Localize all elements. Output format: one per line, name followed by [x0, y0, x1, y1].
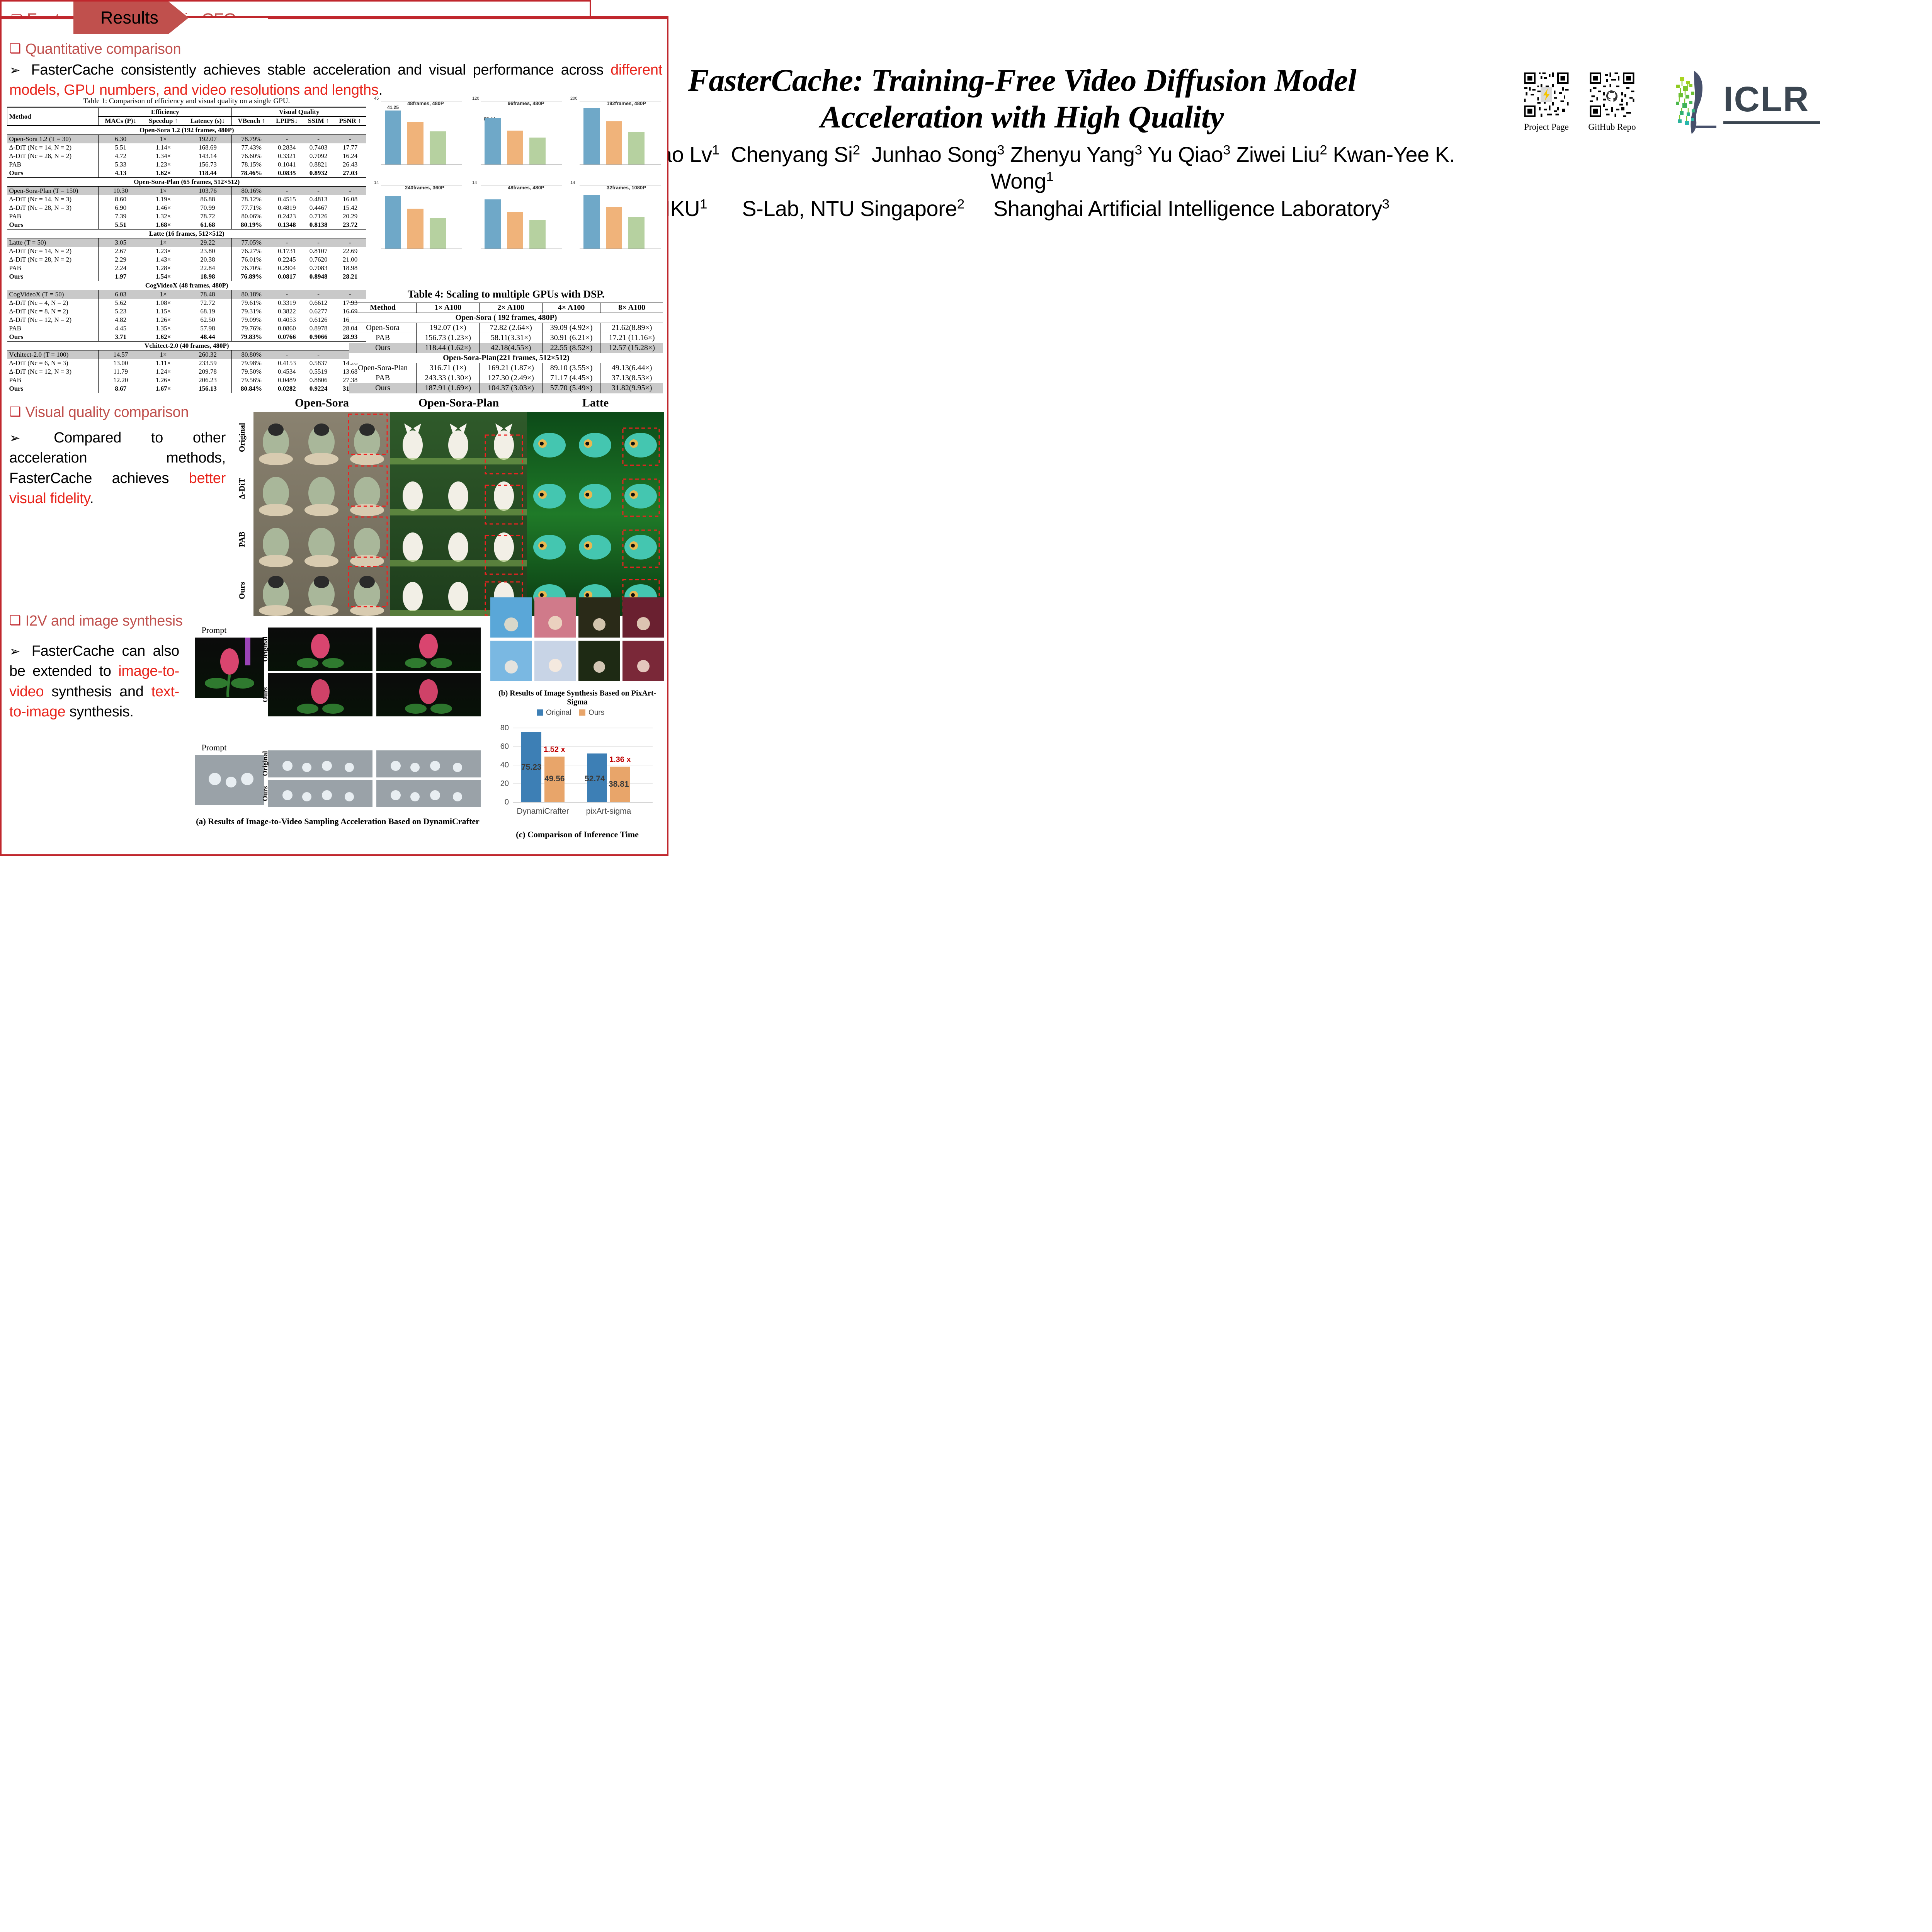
i2v-bullet-mid: synthesis and [44, 684, 151, 700]
table4-cell: PAB [349, 373, 417, 383]
table1-cell: 0.9066 [303, 333, 334, 342]
table-row: Δ-DiT (Nc = 14, N = 3)8.601.19×86.8878.1… [7, 195, 367, 204]
table-row: Open-Sora192.07 (1×)72.82 (2.64×)39.09 (… [349, 323, 663, 333]
inference-time-chart: Original Ours 806040 200 [490, 706, 664, 840]
table1-cell: 26.43 [334, 160, 366, 169]
table-row: PAB5.331.23×156.7378.15%0.10410.882126.4… [7, 160, 367, 169]
table-row: Δ-DiT (Nc = 12, N = 3)11.791.24×209.7879… [7, 367, 367, 376]
table-row: PAB7.391.32×78.7280.06%0.24230.712620.29 [7, 212, 367, 221]
poster-title-line-2: Acceleration with High Quality [572, 99, 1472, 135]
quantitative-head: ❑Quantitative comparison [9, 41, 662, 58]
table-row: PAB2.241.28×22.8476.70%0.29040.708318.98 [7, 264, 367, 272]
i2v-head-label: I2V and image synthesis [25, 613, 182, 629]
arrow-bullet-icon: ➢ [9, 431, 20, 446]
bar-category-dynamicrafter: DynamiCrafter [517, 807, 569, 816]
table1-cell-method: Open-Sora-Plan (T = 150) [7, 187, 99, 196]
table4-cell: 169.21 (1.87×) [480, 363, 543, 373]
table1-cell-method: Ours [7, 333, 99, 342]
table1-cell: 16.08 [334, 195, 366, 204]
table-row: Ours5.511.68×61.6880.19%0.13480.813823.7… [7, 221, 367, 230]
table4-cell: 156.73 (1.23×) [417, 333, 480, 343]
visual-quality-bullet-post: . [90, 490, 94, 507]
table1-cell: 0.3822 [271, 307, 303, 316]
grid-row-original: Original [237, 412, 253, 463]
pixart-synthesis-images [490, 597, 664, 686]
table1-cell: 1.35× [143, 324, 184, 333]
visual-quality-head: ❑Visual quality comparison [9, 404, 249, 421]
table1-cell-method: Δ-DiT (Nc = 8, N = 2) [7, 307, 99, 316]
table1-cell: 18.98 [334, 264, 366, 272]
table1-cell: 0.7620 [303, 255, 334, 264]
table1-cell: 0.7083 [303, 264, 334, 272]
svg-text:45: 45 [374, 96, 379, 101]
table4-cell: Open-Sora-Plan [349, 363, 417, 373]
table1-cell: 86.88 [184, 195, 232, 204]
table1-cell: 0.4467 [303, 204, 334, 212]
table1-cell: - [271, 350, 303, 359]
table1-cell: 1.28× [143, 264, 184, 272]
table1-cell: 1.97 [99, 272, 143, 281]
speedup-label-dynamicrafter: 1.52 x [544, 745, 565, 754]
table1-cell: 0.5837 [303, 359, 334, 367]
table1-cell: 79.83% [232, 333, 271, 342]
table1-cell: 5.51 [99, 143, 143, 152]
table1-cell-method: PAB [7, 264, 99, 272]
table1-group-visual-quality: Visual Quality [232, 107, 366, 117]
arrow-bullet-icon: ➢ [9, 644, 20, 659]
table1-cell: 1.46× [143, 204, 184, 212]
table4-col-4xa100: 4× A100 [542, 303, 600, 313]
i2v-row-original-2: Original [261, 751, 269, 776]
table1-cell: - [334, 135, 366, 144]
results-banner-label: Results [100, 8, 158, 28]
table1-cell: 1.15× [143, 307, 184, 316]
speedup-bar-charts: 45 41.25 48frames, 480P 120 85.44 96fram [372, 95, 663, 265]
table4-cell: 31.82(9.95×) [600, 383, 663, 393]
table1-cell-method: Δ-DiT (Nc = 28, N = 2) [7, 255, 99, 264]
table1-cell: 2.24 [99, 264, 143, 272]
table1-cell: 80.06% [232, 212, 271, 221]
table1-cell: 23.72 [334, 221, 366, 230]
table1-cell: 61.68 [184, 221, 232, 230]
table1-cell: 0.8806 [303, 376, 334, 384]
visual-comparison-grid: Open-Sora Open-Sora-Plan Latte Original … [237, 396, 664, 616]
table4-cell: 118.44 (1.62×) [417, 343, 480, 353]
table4-caption: Table 4: Scaling to multiple GPUs with D… [349, 288, 663, 300]
table1-cell: - [271, 238, 303, 247]
title-block: FasterCache: Training-Free Video Diffusi… [572, 62, 1472, 221]
table1-cell: 79.98% [232, 359, 271, 367]
table1-cell: 8.67 [99, 384, 143, 393]
table1-cell: 78.46% [232, 169, 271, 178]
table-row: Ours8.671.67×156.1380.84%0.02820.922431.… [7, 384, 367, 393]
table1-cell: 1.26× [143, 376, 184, 384]
table1-cell: 0.4813 [303, 195, 334, 204]
table1-cell-method: Δ-DiT (Nc = 12, N = 3) [7, 367, 99, 376]
table1-cell-method: Δ-DiT (Nc = 28, N = 3) [7, 204, 99, 212]
table4-body: Open-Sora ( 192 frames, 480P)Open-Sora19… [349, 313, 663, 393]
table1-cell: 0.4053 [271, 316, 303, 324]
grid-col-latte: Latte [527, 396, 664, 410]
table1-group-header-row: Method Efficiency Visual Quality [7, 107, 367, 117]
table4-cell: 243.33 (1.30×) [417, 373, 480, 383]
table1-section-header: Open-Sora-Plan (65 frames, 512×512) [7, 178, 367, 187]
table1-cell: 62.50 [184, 316, 232, 324]
table4-cell: 104.37 (3.03×) [480, 383, 543, 393]
table1-cell: 260.32 [184, 350, 232, 359]
table1-cell: 0.8138 [303, 221, 334, 230]
table1-cell: 0.7126 [303, 212, 334, 221]
i2v-row-original-1: Original [261, 636, 269, 662]
table1-cell: 206.23 [184, 376, 232, 384]
table1-cell-method: PAB [7, 160, 99, 169]
table1-cell: - [334, 238, 366, 247]
svg-text:48frames, 480P: 48frames, 480P [407, 100, 444, 106]
table1-cell: 1× [143, 135, 184, 144]
table4-cell: Ours [349, 383, 417, 393]
table-row: Δ-DiT (Nc = 28, N = 3)6.901.46×70.9977.7… [7, 204, 367, 212]
table-row: Ours4.131.62×118.4478.46%0.08350.893227.… [7, 169, 367, 178]
table1-cell: 80.18% [232, 290, 271, 299]
svg-text:60: 60 [500, 742, 509, 751]
table1-cell: 79.61% [232, 299, 271, 307]
results-panel: Results ❑Quantitative comparison ➢ Faste… [0, 16, 668, 856]
table1-cell: 80.19% [232, 221, 271, 230]
table4-cell: PAB [349, 333, 417, 343]
table-row: PAB12.201.26×206.2379.56%0.04890.880627.… [7, 376, 367, 384]
table-row: Δ-DiT (Nc = 8, N = 2)5.231.15×68.1979.31… [7, 307, 367, 316]
table1-cell: - [271, 290, 303, 299]
table1-cell: 0.0860 [271, 324, 303, 333]
table1-cell: - [303, 238, 334, 247]
table1-cell: 27.03 [334, 169, 366, 178]
table1-cell-method: Ours [7, 384, 99, 393]
table1-cell-method: Open-Sora 1.2 (T = 30) [7, 135, 99, 144]
table1-cell: 1.54× [143, 272, 184, 281]
table4-cell: 57.70 (5.49×) [542, 383, 600, 393]
prompt-label-2: Prompt [202, 743, 227, 752]
table4-cell: 17.21 (11.16×) [600, 333, 663, 343]
table4-cell: 127.30 (2.49×) [480, 373, 543, 383]
table4-cell: Ours [349, 343, 417, 353]
table1-cell: - [303, 350, 334, 359]
table1-cell: 15.42 [334, 204, 366, 212]
table1-cell-method: CogVideoX (T = 50) [7, 290, 99, 299]
table1-cell: 79.56% [232, 376, 271, 384]
table4-cell: Open-Sora [349, 323, 417, 333]
table1-cell: - [303, 187, 334, 196]
table-row: Open-Sora 1.2 (T = 30)6.301×192.0778.79%… [7, 135, 367, 144]
table4-cell: 71.17 (4.45×) [542, 373, 600, 383]
table4-cell: 22.55 (8.52×) [542, 343, 600, 353]
table1-cell-method: PAB [7, 324, 99, 333]
table1-cell: 0.4819 [271, 204, 303, 212]
table1-cell: 6.30 [99, 135, 143, 144]
table1-cell: 0.2245 [271, 255, 303, 264]
results-banner-rule-left [0, 18, 73, 19]
table1-cell: 77.05% [232, 238, 271, 247]
table1-cell: 0.8948 [303, 272, 334, 281]
table1-cell: 0.0489 [271, 376, 303, 384]
table-row: Δ-DiT (Nc = 28, N = 2)2.291.43×20.3876.0… [7, 255, 367, 264]
table1-cell-method: Ours [7, 221, 99, 230]
table1-cell-method: Ours [7, 272, 99, 281]
table1-cell: 0.0766 [271, 333, 303, 342]
table1-cell: 11.79 [99, 367, 143, 376]
table1-col-speedup: Speedup ↑ [143, 117, 184, 126]
table4-cell: 89.10 (3.55×) [542, 363, 600, 373]
svg-text:20: 20 [500, 779, 509, 788]
table1-cell: 28.21 [334, 272, 366, 281]
table1-cell: 17.77 [334, 143, 366, 152]
table-row: Δ-DiT (Nc = 4, N = 2)5.621.08×72.7279.61… [7, 299, 367, 307]
table1-cell: 80.80% [232, 350, 271, 359]
table1-cell: 2.67 [99, 247, 143, 255]
table1-cell: 0.6612 [303, 299, 334, 307]
table1-cell: 1.43× [143, 255, 184, 264]
table1-cell: 10.30 [99, 187, 143, 196]
table-row: Δ-DiT (Nc = 14, N = 2)2.671.23×23.8076.2… [7, 247, 367, 255]
svg-text:32frames, 1080P: 32frames, 1080P [607, 185, 646, 190]
table1-cell: 78.15% [232, 160, 271, 169]
table1-cell: 68.19 [184, 307, 232, 316]
bar-label-pixart-ours: 38.81 [609, 780, 629, 789]
table1-cell: 209.78 [184, 367, 232, 376]
table1-cell: 72.72 [184, 299, 232, 307]
iclr-mark-icon [1658, 68, 1716, 135]
arrow-bullet-icon: ➢ [9, 63, 20, 78]
table1-cell: 3.71 [99, 333, 143, 342]
table1-cell: 0.6277 [303, 307, 334, 316]
i2v-caption-a: (a) Results of Image-to-Video Sampling A… [191, 816, 485, 827]
iclr-underline [1723, 121, 1820, 124]
table-row: Vchitect-2.0 (T = 100)14.571×260.3280.80… [7, 350, 367, 359]
table1-cell: 7.39 [99, 212, 143, 221]
i2v-bullet-post: synthesis. [65, 704, 133, 720]
middle-column: ❑Feature Redundancy in CFG 0.000.010.02 … [0, 856, 591, 1712]
table1-cell: 6.03 [99, 290, 143, 299]
table1-cell: 156.73 [184, 160, 232, 169]
table1-cell: 18.98 [184, 272, 232, 281]
table1-cell: 1.08× [143, 299, 184, 307]
table1-cell-method: PAB [7, 212, 99, 221]
grid-col-open-sora-plan: Open-Sora-Plan [390, 396, 527, 410]
bar-label-dynamicrafter-ours: 49.56 [544, 774, 565, 783]
table1-cell: 0.0817 [271, 272, 303, 281]
svg-text:200: 200 [570, 96, 577, 101]
table4-section-header: Open-Sora ( 192 frames, 480P) [349, 313, 663, 323]
table1-cell: 233.59 [184, 359, 232, 367]
table1-cell-method: Δ-DiT (Nc = 4, N = 2) [7, 299, 99, 307]
grid-row-pab: PAB [237, 514, 253, 565]
table1-cell: 0.8107 [303, 247, 334, 255]
table1-body: Open-Sora 1.2 (192 frames, 480P)Open-Sor… [7, 126, 367, 393]
table1-cell: 0.5519 [303, 367, 334, 376]
table1-cell: 0.8821 [303, 160, 334, 169]
table1-cell: 4.82 [99, 316, 143, 324]
table1-cell: 21.00 [334, 255, 366, 264]
table1-cell: 192.07 [184, 135, 232, 144]
svg-text:120: 120 [472, 96, 479, 101]
quantitative-bullet-pre: FasterCache consistently achieves stable… [31, 62, 611, 78]
table1-cell: 78.79% [232, 135, 271, 144]
svg-text:96frames, 480P: 96frames, 480P [508, 100, 544, 106]
table-row: Ours118.44 (1.62×)42.18(4.55×)22.55 (8.5… [349, 343, 663, 353]
qr-and-conference-logos: Project Page [1522, 68, 1820, 135]
table4-cell: 30.91 (6.21×) [542, 333, 600, 343]
table1: Method Efficiency Visual Quality MACs (P… [7, 107, 366, 393]
table1-cell: 0.8978 [303, 324, 334, 333]
table4-col-method: Method [349, 303, 417, 313]
poster-title-line-1: FasterCache: Training-Free Video Diffusi… [572, 62, 1472, 99]
table1-cell: 0.6126 [303, 316, 334, 324]
qr-code-icon[interactable] [1522, 71, 1570, 119]
svg-text:80: 80 [500, 724, 509, 732]
table1-col-vbench: VBench ↑ [232, 117, 271, 126]
table1-cell: 4.72 [99, 152, 143, 160]
table-row: Open-Sora-Plan316.71 (1×)169.21 (1.87×)8… [349, 363, 663, 373]
table1-cell: 0.4153 [271, 359, 303, 367]
table-row: Latte (T = 50)3.051×29.2277.05%--- [7, 238, 367, 247]
table1-cell: 0.2834 [271, 143, 303, 152]
speedup-label-pixart: 1.36 x [609, 755, 631, 764]
table1-cell: 5.51 [99, 221, 143, 230]
table1-cell: 23.80 [184, 247, 232, 255]
table4-section-header: Open-Sora-Plan(221 frames, 512×512) [349, 353, 663, 363]
table4-header-row: Method 1× A100 2× A100 4× A100 8× A100 [349, 303, 663, 313]
table1-cell: 79.76% [232, 324, 271, 333]
table-row: Δ-DiT (Nc = 6, N = 3)13.001.11×233.5979.… [7, 359, 367, 367]
table1-cell: 1.34× [143, 152, 184, 160]
table1-cell: 103.76 [184, 187, 232, 196]
qr-code-icon[interactable] [1588, 71, 1636, 119]
table1-cell: 6.90 [99, 204, 143, 212]
table4-col-2xa100: 2× A100 [480, 303, 543, 313]
table4-cell: 192.07 (1×) [417, 323, 480, 333]
table1-cell: 1.14× [143, 143, 184, 152]
table4-cell: 21.62(8.89×) [600, 323, 663, 333]
table1-cell: 4.45 [99, 324, 143, 333]
poster-root: 格 明 物 德 SAPIENTIA·ET·VIRTUS 上 海 人 工 智 能 … [0, 0, 1932, 1113]
svg-text:14: 14 [472, 180, 477, 185]
table1-cell: 0.8932 [303, 169, 334, 178]
table1-cell: 1.26× [143, 316, 184, 324]
table1-col-latency: Latency (s)↓ [184, 117, 232, 126]
table1-cell: 0.2904 [271, 264, 303, 272]
table1-cell: 0.4534 [271, 367, 303, 376]
table-row: PAB156.73 (1.23×)58.11(3.31×)30.91 (6.21… [349, 333, 663, 343]
table-row: Open-Sora-Plan (T = 150)10.301×103.7680.… [7, 187, 367, 196]
table1-cell-method: Latte (T = 50) [7, 238, 99, 247]
bar-label-dynamicrafter-original: 75.23 [521, 763, 542, 772]
table1-cell: 1.67× [143, 384, 184, 393]
table1-cell: 1.62× [143, 333, 184, 342]
table1-cell: 2.29 [99, 255, 143, 264]
table1-cell: 1.32× [143, 212, 184, 221]
table1-cell: 29.22 [184, 238, 232, 247]
table1-cell: 156.13 [184, 384, 232, 393]
table1-cell: 0.4515 [271, 195, 303, 204]
table1-cell: 22.69 [334, 247, 366, 255]
table4-cell: 58.11(3.31×) [480, 333, 543, 343]
table1-cell: 20.38 [184, 255, 232, 264]
table1-group-efficiency: Efficiency [99, 107, 232, 117]
table1-cell: 0.1348 [271, 221, 303, 230]
qr-github-repo[interactable]: GitHub Repo [1588, 71, 1636, 132]
table1-cell: 118.44 [184, 169, 232, 178]
table1-cell: - [271, 135, 303, 144]
prompt-label-1: Prompt [202, 625, 227, 635]
affiliation-list: HKU1 S-Lab, NTU Singapore2 Shanghai Arti… [572, 196, 1472, 221]
table1-section-header: Latte (16 frames, 512×512) [7, 230, 367, 238]
table1-cell: 0.1731 [271, 247, 303, 255]
table1-cell: 4.13 [99, 169, 143, 178]
table1-cell: 78.12% [232, 195, 271, 204]
table1-cell: 77.43% [232, 143, 271, 152]
table-row: CogVideoX (T = 50)6.031×78.4880.18%--- [7, 290, 367, 299]
visual-comparison-images [253, 412, 664, 616]
table1-cell: 12.20 [99, 376, 143, 384]
square-bullet-icon: ❑ [9, 613, 21, 628]
iclr-wordmark: ICLR [1723, 79, 1820, 120]
table1-cell: 0.7403 [303, 143, 334, 152]
table1-cell: 77.71% [232, 204, 271, 212]
i2v-bullet: ➢ FasterCache can also be extended to im… [9, 641, 179, 722]
table1-cell: 1.23× [143, 160, 184, 169]
i2v-row-ours-2: Ours [261, 786, 269, 801]
qr-project-page[interactable]: Project Page [1522, 71, 1570, 132]
table1-cell: 48.44 [184, 333, 232, 342]
table1-cell-method: Δ-DiT (Nc = 12, N = 2) [7, 316, 99, 324]
table1-cell: 0.1041 [271, 160, 303, 169]
table1-cell: 1.19× [143, 195, 184, 204]
image-synthesis-caption-b: (b) Results of Image Synthesis Based on … [490, 689, 664, 707]
table1-section-header: CogVideoX (48 frames, 480P) [7, 281, 367, 290]
table1-cell: 76.01% [232, 255, 271, 264]
table1-cell: 5.62 [99, 299, 143, 307]
table1-cell: 79.09% [232, 316, 271, 324]
table1-cell-method: PAB [7, 376, 99, 384]
grid-row-delta-dit: Δ-DiT [237, 463, 253, 514]
table1-section-header: Open-Sora 1.2 (192 frames, 480P) [7, 126, 367, 135]
table1-cell: 76.70% [232, 264, 271, 272]
table1-cell: 0.3319 [271, 299, 303, 307]
table1-cell: 1.23× [143, 247, 184, 255]
table1-cell: - [303, 290, 334, 299]
table4-cell: 39.09 (4.92×) [542, 323, 600, 333]
table4-col-1xa100: 1× A100 [417, 303, 480, 313]
i2v-figure-a: Prompt Prompt [191, 597, 485, 827]
table1-cell: 0.0282 [271, 384, 303, 393]
table-row: Ours1.971.54×18.9876.89%0.08170.894828.2… [7, 272, 367, 281]
table-row: Δ-DiT (Nc = 28, N = 2)4.721.34×143.1476.… [7, 152, 367, 160]
table4-cell: 72.82 (2.64×) [480, 323, 543, 333]
visual-quality-bullet: ➢ Compared to other acceleration methods… [9, 428, 226, 509]
table1-cell: 3.05 [99, 238, 143, 247]
table1-col-psnr: PSNR ↑ [334, 117, 366, 126]
table1-cell: 1× [143, 238, 184, 247]
svg-text:Ours: Ours [588, 709, 604, 717]
table1-col-lpips: LPIPS↓ [271, 117, 303, 126]
table4-cell: 37.13(8.53×) [600, 373, 663, 383]
results-banner-rule-right [268, 18, 668, 19]
table1-cell: 0.9224 [303, 384, 334, 393]
table1-cell: 1× [143, 350, 184, 359]
table4-cell: 12.57 (15.28×) [600, 343, 663, 353]
table1-cell: 1.24× [143, 367, 184, 376]
table1-cell-method: Ours [7, 169, 99, 178]
table4-cell: 49.13(6.44×) [600, 363, 663, 373]
